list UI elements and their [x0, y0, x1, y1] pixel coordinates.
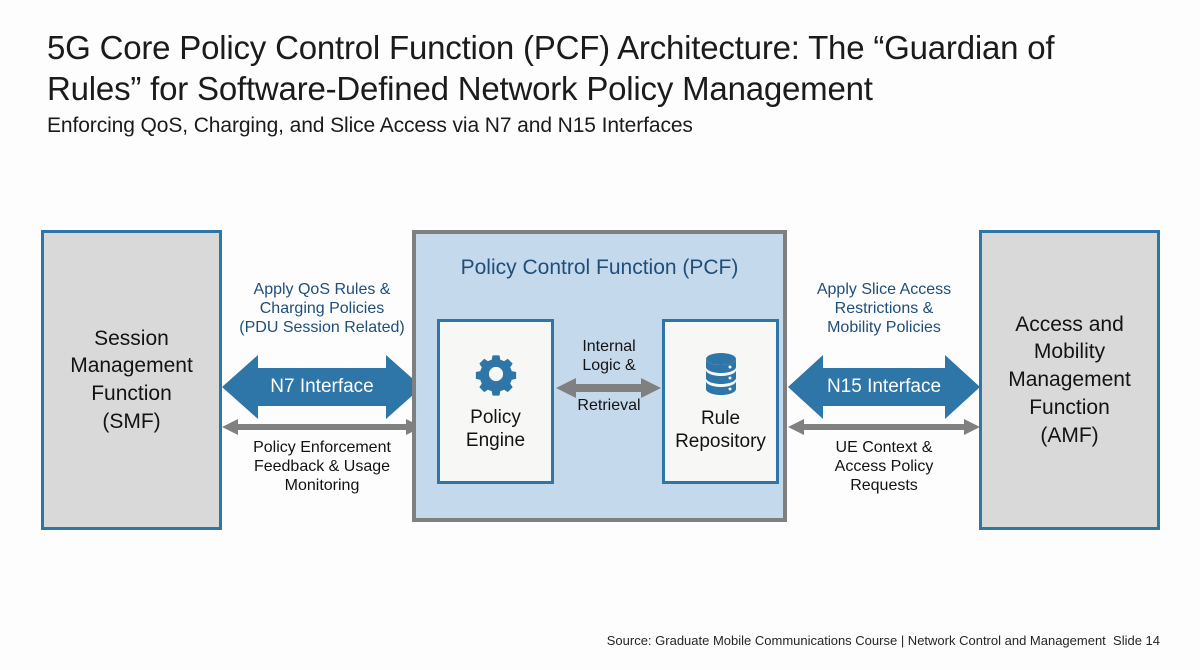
card-policy-engine-label: Policy Engine: [462, 407, 529, 453]
n7-blue-arrow[interactable]: N7 Interface: [222, 353, 422, 421]
n7-grey-return-arrow: [222, 418, 422, 436]
pcf-container[interactable]: Policy Control Function (PCF) Policy Eng…: [412, 230, 787, 522]
database-icon: [699, 350, 743, 398]
internal-link-top-label: Internal Logic &: [548, 338, 670, 376]
node-amf[interactable]: Access and Mobility Management Function …: [979, 230, 1160, 530]
card-policy-engine[interactable]: Policy Engine: [437, 319, 554, 484]
internal-link-bottom-label: Retrieval: [548, 397, 670, 416]
slide-canvas: 5G Core Policy Control Function (PCF) Ar…: [0, 0, 1200, 670]
gear-icon: [473, 351, 519, 397]
pcf-title: Policy Control Function (PCF): [416, 256, 783, 280]
interface-n15-bottom-label: UE Context & Access Policy Requests: [782, 438, 986, 496]
source-footer: Source: Graduate Mobile Communications C…: [607, 633, 1160, 648]
n15-blue-arrow[interactable]: N15 Interface: [788, 353, 980, 421]
page-subtitle: Enforcing QoS, Charging, and Slice Acces…: [47, 113, 1147, 138]
page-title: 5G Core Policy Control Function (PCF) Ar…: [47, 28, 1157, 109]
interface-n15-top-label: Apply Slice Access Restrictions & Mobili…: [788, 280, 980, 338]
node-smf-label: Session Management Function (SMF): [62, 325, 201, 436]
internal-link-arrow: [556, 377, 661, 399]
card-rule-repository[interactable]: Rule Repository: [662, 319, 779, 484]
interface-n7[interactable]: Apply QoS Rules & Charging Policies (PDU…: [222, 280, 422, 505]
interface-n15[interactable]: Apply Slice Access Restrictions & Mobili…: [788, 280, 980, 505]
node-amf-label: Access and Mobility Management Function …: [1000, 311, 1139, 450]
n15-grey-return-arrow: [788, 418, 980, 436]
card-rule-repository-label: Rule Repository: [671, 408, 770, 454]
node-smf[interactable]: Session Management Function (SMF): [41, 230, 222, 530]
interface-n7-bottom-label: Policy Enforcement Feedback & Usage Moni…: [216, 438, 428, 496]
interface-n7-top-label: Apply QoS Rules & Charging Policies (PDU…: [222, 280, 422, 338]
